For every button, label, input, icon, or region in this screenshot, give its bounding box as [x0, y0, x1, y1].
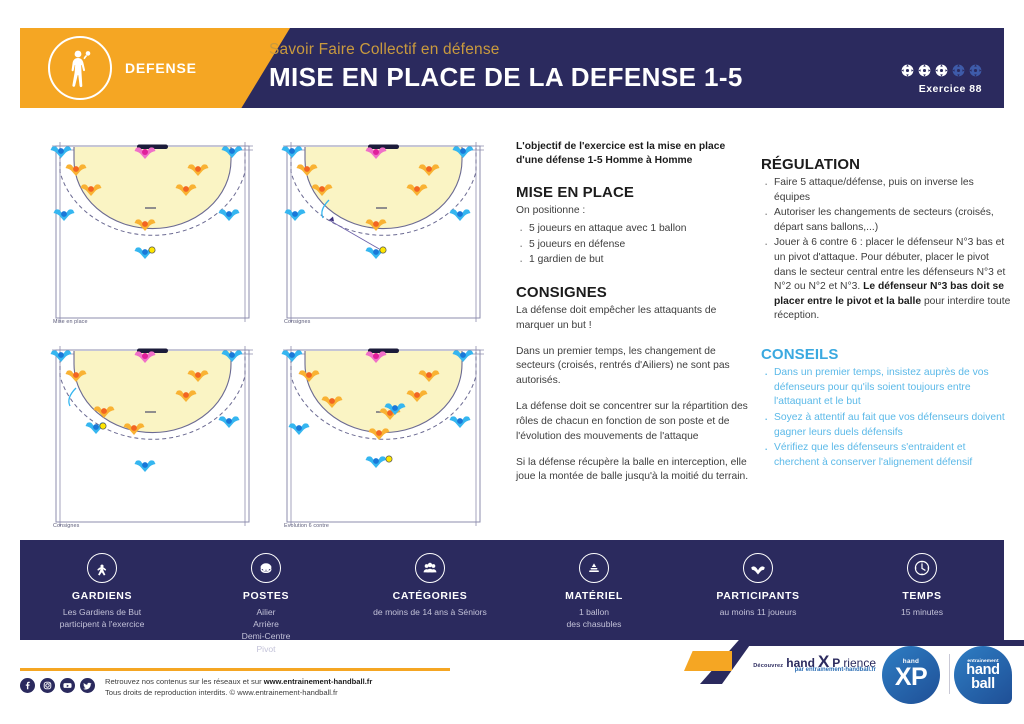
- list-item: Soyez à attentif au fait que vos défense…: [761, 411, 1011, 440]
- logo-divider: [949, 654, 950, 694]
- court-label: Mise en place: [53, 319, 88, 325]
- twitter-icon[interactable]: [80, 678, 95, 693]
- stat-sub: au moins 11 joueurs: [676, 606, 840, 618]
- handball-logo-line2: ball: [971, 678, 995, 691]
- category-label: DEFENSE: [125, 60, 197, 76]
- advice-list: Dans un premier temps, insistez auprès d…: [761, 366, 1011, 470]
- stat-title: POSTES: [184, 590, 348, 602]
- instructions-paragraphs: La défense doit empêcher les attaquants …: [516, 304, 752, 485]
- advice-heading: CONSEILS: [761, 346, 1011, 363]
- ball-marker: [380, 247, 386, 253]
- handball-logo[interactable]: entrainement hand ball: [954, 646, 1012, 704]
- category-badge: DEFENSE: [48, 36, 197, 100]
- instructions-column: L'objectif de l'exercice est la mise en …: [516, 140, 752, 485]
- ball-marker: [386, 456, 392, 462]
- stat-sub: de moins de 14 ans à Séniors: [348, 606, 512, 618]
- court-diagram: Evolution 6 contre: [277, 342, 490, 532]
- group-icon: [415, 553, 445, 583]
- footer-line-2: Tous droits de reproduction interdits. ©…: [105, 687, 372, 698]
- ball-rating-icon: [918, 64, 931, 77]
- objective-text: L'objectif de l'exercice est la mise en …: [516, 140, 752, 168]
- cone-icon: [579, 553, 609, 583]
- stat-line: Arrière: [184, 618, 348, 630]
- stat-catégories: CATÉGORIESde moins de 14 ans à Séniors: [348, 540, 512, 640]
- setup-intro: On positionne :: [516, 204, 752, 219]
- court-label: Consignes: [53, 523, 79, 529]
- footer-line-1: Retrouvez nos contenus sur les réseaux e…: [105, 676, 372, 687]
- ball-marker: [100, 423, 106, 429]
- footer: Retrouvez nos contenus sur les réseaux e…: [20, 676, 372, 699]
- header-titles: Savoir Faire Collectif en défense MISE E…: [269, 41, 743, 93]
- instruction-paragraph: La défense doit se concentrer sur la rép…: [516, 400, 752, 444]
- instagram-icon[interactable]: [40, 678, 55, 693]
- youtube-icon[interactable]: [60, 678, 75, 693]
- stat-line: des chasubles: [512, 618, 676, 630]
- footer-line-1-pre: Retrouvez nos contenus sur les réseaux e…: [105, 677, 264, 686]
- clock-icon: [907, 553, 937, 583]
- goalkeeper-icon: [87, 553, 117, 583]
- stat-gardiens: GARDIENSLes Gardiens de Butparticipent à…: [20, 540, 184, 640]
- setup-list: 5 joueurs en attaque avec 1 ballon5 joue…: [516, 222, 752, 268]
- brand-yellow-accent: [684, 651, 732, 671]
- footer-website-link[interactable]: www.entrainement-handball.fr: [264, 677, 373, 686]
- court-diagram: Consignes: [277, 138, 490, 328]
- header-kicker: Savoir Faire Collectif en défense: [269, 41, 743, 59]
- ball-rating-icon: [952, 64, 965, 77]
- ball-rating-icon: [901, 64, 914, 77]
- court-graphic: [46, 138, 259, 328]
- stat-participants: PARTICIPANTSau moins 11 joueurs: [676, 540, 840, 640]
- page-title: MISE EN PLACE DE LA DEFENSE 1-5: [269, 62, 743, 93]
- handxp-logo-main: XP: [895, 663, 927, 692]
- stat-title: PARTICIPANTS: [676, 590, 840, 602]
- exercise-meta: Exercice 88: [901, 64, 982, 95]
- court-diagrams: Mise en placeConsignesConsignesEvolution…: [46, 138, 494, 532]
- setup-heading: MISE EN PLACE: [516, 184, 752, 201]
- handxp-logo[interactable]: hand XP: [882, 646, 940, 704]
- instruction-paragraph: Si la défense récupère la balle en inter…: [516, 456, 752, 486]
- stat-line: participent à l'exercice: [20, 618, 184, 630]
- stat-line: Les Gardiens de But: [20, 606, 184, 618]
- regulation-heading: RÉGULATION: [761, 156, 1011, 173]
- stat-temps: TEMPS15 minutes: [840, 540, 1004, 640]
- court-diagram: Consignes: [46, 342, 259, 532]
- regulation-column: RÉGULATION Faire 5 attaque/défense, puis…: [761, 140, 1011, 471]
- list-item: 5 joueurs en attaque avec 1 ballon: [516, 222, 752, 237]
- regulation-list: Faire 5 attaque/défense, puis on inverse…: [761, 176, 1011, 324]
- discover-small-label: Découvrez: [753, 663, 783, 669]
- footer-rule: [20, 668, 450, 671]
- stat-line: 1 ballon: [512, 606, 676, 618]
- exercise-sheet: DEFENSE Savoir Faire Collectif en défens…: [0, 0, 1024, 724]
- facebook-icon[interactable]: [20, 678, 35, 693]
- stat-title: TEMPS: [840, 590, 1004, 602]
- difficulty-rating: [901, 64, 982, 77]
- instructions-heading: CONSIGNES: [516, 284, 752, 301]
- list-item: Dans un premier temps, insistez auprès d…: [761, 366, 1011, 410]
- court-label: Evolution 6 contre: [284, 523, 329, 529]
- social-links: [20, 676, 95, 693]
- stat-sub: 15 minutes: [840, 606, 1004, 618]
- list-item: Vérifiez que les défenseurs s'entraident…: [761, 441, 1011, 470]
- exercise-number: Exercice 88: [901, 83, 982, 95]
- stat-line: au moins 11 joueurs: [676, 606, 840, 618]
- court-diagram: Mise en place: [46, 138, 259, 328]
- list-item: 1 gardien de but: [516, 253, 752, 268]
- stat-line: 15 minutes: [840, 606, 1004, 618]
- stat-title: MATÉRIEL: [512, 590, 676, 602]
- stat-sub: Les Gardiens de Butparticipent à l'exerc…: [20, 606, 184, 630]
- ball-rating-icon: [935, 64, 948, 77]
- list-item: Autoriser les changements de secteurs (c…: [761, 206, 1011, 235]
- stat-postes: POSTESAilierArrièreDemi-CentrePivot: [184, 540, 348, 640]
- participants-icon: [743, 553, 773, 583]
- court-graphic: [46, 342, 259, 532]
- discover-byline: par entrainement-handball.fr: [795, 667, 876, 673]
- court-graphic: [277, 342, 490, 532]
- ball-marker: [149, 247, 155, 253]
- stat-title: CATÉGORIES: [348, 590, 512, 602]
- stat-line: Ailier: [184, 606, 348, 618]
- list-item: 5 joueurs en défense: [516, 238, 752, 253]
- list-item: Jouer à 6 contre 6 : placer le défenseur…: [761, 236, 1011, 324]
- instruction-paragraph: Dans un premier temps, les changement de…: [516, 345, 752, 389]
- positions-icon: [251, 553, 281, 583]
- court-label: Consignes: [284, 319, 310, 325]
- ball-rating-icon: [969, 64, 982, 77]
- stat-title: GARDIENS: [20, 590, 184, 602]
- stat-matériel: MATÉRIEL1 ballondes chasubles: [512, 540, 676, 640]
- stats-bar: GARDIENSLes Gardiens de Butparticipent à…: [20, 540, 1004, 640]
- list-item: Faire 5 attaque/défense, puis on inverse…: [761, 176, 1011, 205]
- instruction-paragraph: La défense doit empêcher les attaquants …: [516, 304, 752, 334]
- stat-line: de moins de 14 ans à Séniors: [348, 606, 512, 618]
- defense-player-icon: [48, 36, 112, 100]
- footer-text: Retrouvez nos contenus sur les réseaux e…: [105, 676, 372, 699]
- court-graphic: [277, 138, 490, 328]
- stat-sub: 1 ballondes chasubles: [512, 606, 676, 630]
- header: DEFENSE Savoir Faire Collectif en défens…: [20, 28, 1004, 108]
